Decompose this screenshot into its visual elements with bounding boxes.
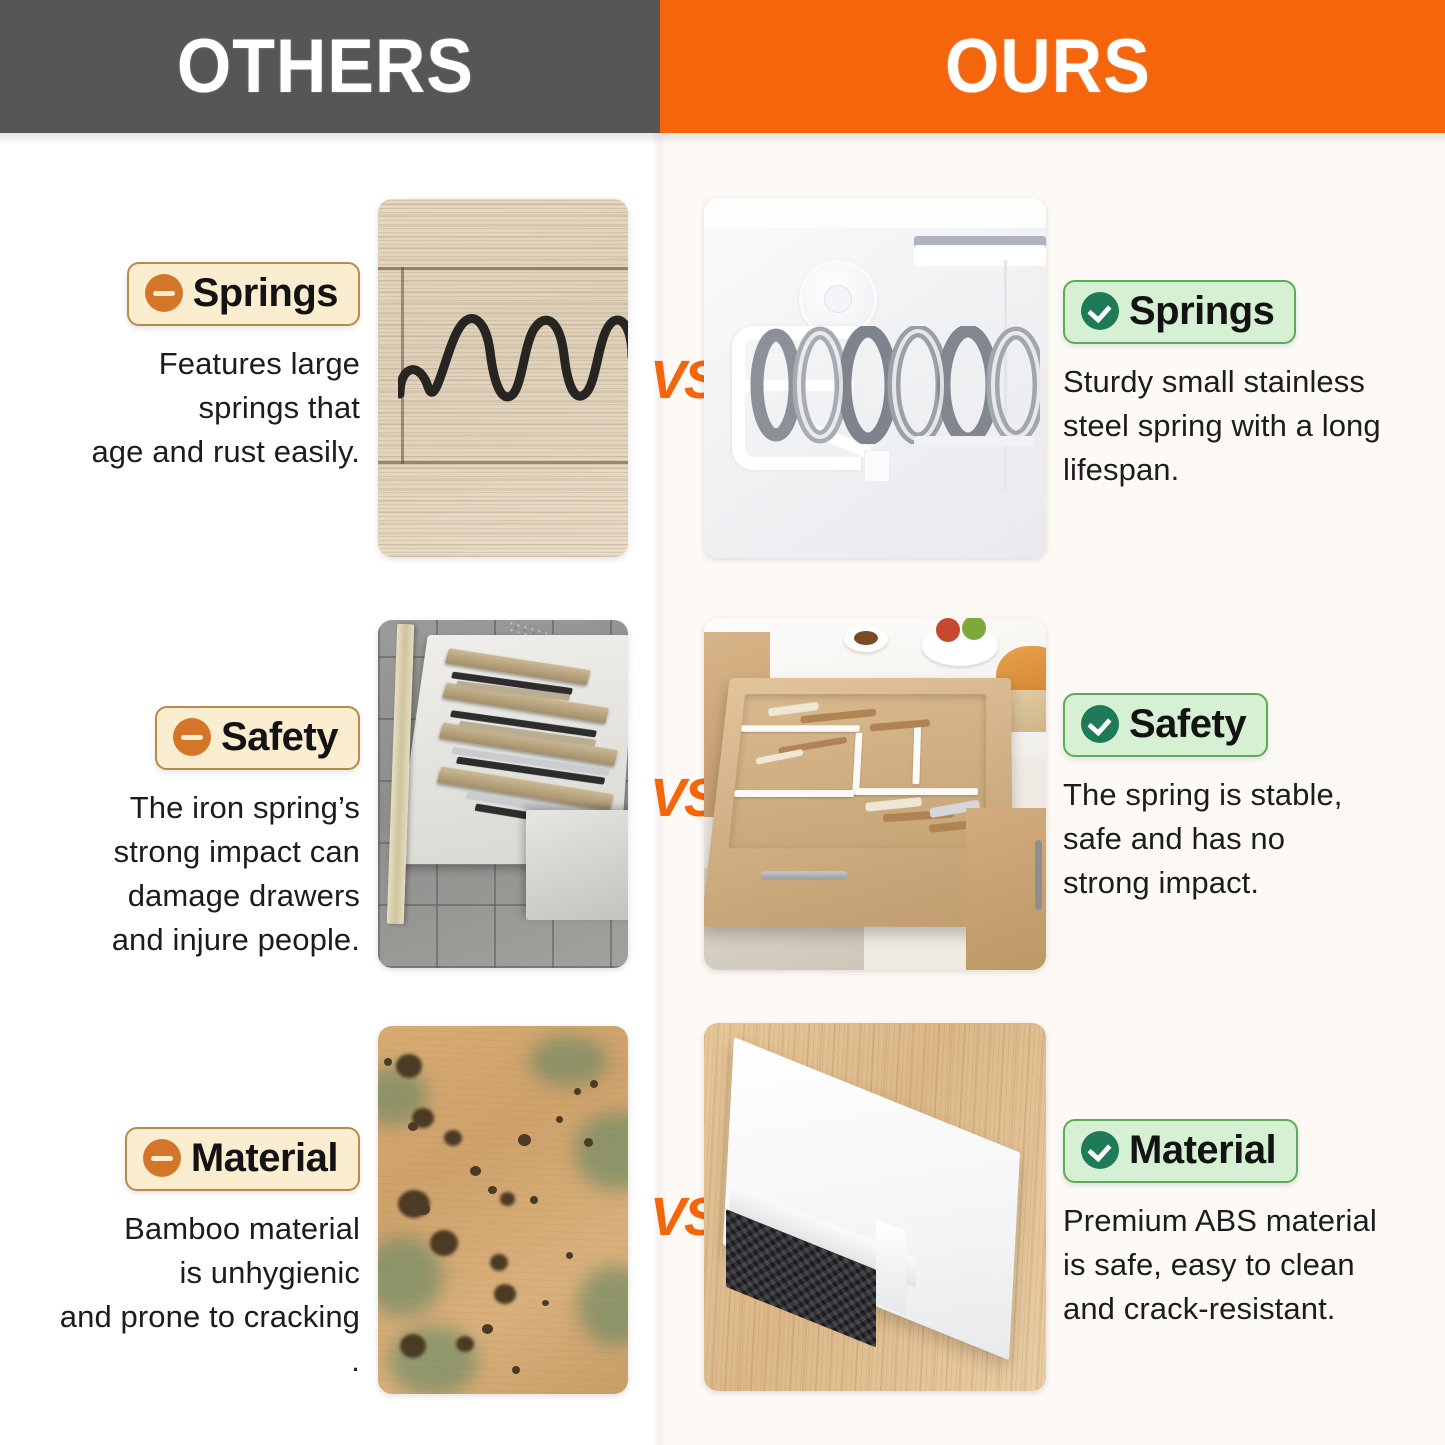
mold-spot xyxy=(530,1196,538,1204)
drawer-interior xyxy=(728,694,986,848)
header-others: OTHERS xyxy=(0,0,660,133)
drawer-divider xyxy=(741,725,860,732)
drawer-divider xyxy=(852,733,862,794)
coil-spring-icon xyxy=(750,326,1040,444)
others-badge-safety: Safety xyxy=(155,706,360,770)
mold-spot xyxy=(488,1186,497,1194)
ours-image-material xyxy=(704,1023,1046,1391)
coffee-cup xyxy=(844,626,888,652)
check-circle-icon xyxy=(1081,1131,1119,1169)
others-badge-label-springs: Springs xyxy=(193,273,338,313)
ours-body-springs: Sturdy small stainless steel spring with… xyxy=(1063,360,1413,492)
fruit-plate xyxy=(922,626,998,666)
others-badge-label-safety: Safety xyxy=(221,717,338,757)
mold-spot xyxy=(408,1122,418,1131)
comparison-row-material: Material Bamboo material is unhygienic a… xyxy=(0,1017,1445,1397)
header-ours: OURS xyxy=(660,0,1445,133)
mechanism-block xyxy=(864,450,890,482)
mold-spot xyxy=(482,1324,493,1334)
mold-spot xyxy=(400,1334,426,1358)
header-bar: OTHERS OURS xyxy=(0,0,1445,133)
others-badge-springs: Springs xyxy=(127,262,360,326)
mold-spot xyxy=(574,1088,581,1095)
drawer-divider xyxy=(854,788,978,795)
mold-patch xyxy=(578,1266,628,1346)
mold-spot xyxy=(490,1254,508,1271)
ours-text-springs: Springs Sturdy small stainless steel spr… xyxy=(1063,280,1413,492)
ours-badge-label-safety: Safety xyxy=(1129,704,1246,744)
ours-body-material: Premium ABS material is safe, easy to cl… xyxy=(1063,1199,1413,1331)
appliance xyxy=(526,810,628,920)
others-image-safety xyxy=(378,620,628,968)
drawer-divider xyxy=(734,790,854,797)
others-badge-label-material: Material xyxy=(191,1138,338,1178)
mold-patch xyxy=(528,1036,608,1086)
drawer-divider xyxy=(912,725,921,784)
mechanism-top-panel xyxy=(704,198,1046,228)
mold-spot xyxy=(384,1058,392,1066)
mold-spot xyxy=(512,1366,520,1374)
ours-badge-springs: Springs xyxy=(1063,280,1296,344)
ours-text-safety: Safety The spring is stable, safe and ha… xyxy=(1063,693,1413,905)
ours-body-safety: The spring is stable, safe and has no st… xyxy=(1063,773,1413,905)
mold-spot xyxy=(500,1192,515,1206)
check-circle-icon xyxy=(1081,705,1119,743)
mold-spot xyxy=(584,1138,593,1147)
header-others-title: OTHERS xyxy=(177,29,474,105)
mold-spot xyxy=(456,1336,474,1352)
mold-spot xyxy=(494,1284,516,1304)
comparison-infographic: OTHERS OURS Springs Features large sprin… xyxy=(0,0,1445,1445)
others-body-material: Bamboo material is unhygienic and prone … xyxy=(30,1207,360,1383)
others-body-springs: Features large springs that age and rust… xyxy=(30,342,360,474)
others-body-safety: The iron spring’s strong impact can dama… xyxy=(30,786,360,962)
board-seam-bottom xyxy=(378,461,628,464)
mold-spot xyxy=(396,1054,422,1078)
mechanism-ledge xyxy=(914,436,1034,446)
ours-badge-label-springs: Springs xyxy=(1129,291,1274,331)
others-text-material: Material Bamboo material is unhygienic a… xyxy=(30,1127,360,1383)
zigzag-spring-icon xyxy=(398,299,628,414)
mold-spot xyxy=(556,1116,563,1123)
ours-image-safety xyxy=(704,618,1046,970)
header-shadow xyxy=(0,133,1445,145)
ours-text-material: Material Premium ABS material is safe, e… xyxy=(1063,1119,1413,1331)
mold-spot xyxy=(470,1166,481,1176)
organized-drawer-photo xyxy=(704,618,1046,970)
white-spring-mechanism xyxy=(704,198,1046,558)
mold-spot xyxy=(542,1300,549,1306)
messy-drawer-photo xyxy=(378,620,628,968)
ours-badge-safety: Safety xyxy=(1063,693,1268,757)
comparison-row-springs: Springs Features large springs that age … xyxy=(0,190,1445,570)
others-image-springs xyxy=(378,199,628,557)
mold-spot xyxy=(444,1130,462,1146)
mechanism-slot xyxy=(914,236,1046,266)
mold-spot xyxy=(566,1252,573,1259)
abs-organizer-photo xyxy=(704,1023,1046,1391)
others-image-material xyxy=(378,1026,628,1394)
check-circle-icon xyxy=(1081,292,1119,330)
mold-spot xyxy=(418,1204,430,1215)
ours-badge-material: Material xyxy=(1063,1119,1298,1183)
drawer-handle xyxy=(760,871,847,879)
board-seam-top xyxy=(378,267,628,270)
mold-spot xyxy=(430,1230,458,1256)
mold-spot xyxy=(590,1080,598,1088)
others-text-springs: Springs Features large springs that age … xyxy=(30,262,360,474)
moldy-bamboo-texture xyxy=(378,1026,628,1394)
ours-image-springs xyxy=(704,198,1046,558)
comparison-row-safety: Safety The iron spring’s strong impact c… xyxy=(0,613,1445,993)
utensil xyxy=(800,709,876,724)
others-badge-material: Material xyxy=(125,1127,360,1191)
apple-red xyxy=(936,618,960,642)
minus-circle-icon xyxy=(173,718,211,756)
others-text-safety: Safety The iron spring’s strong impact c… xyxy=(30,706,360,962)
organizer-side xyxy=(876,1219,906,1315)
wood-board-texture xyxy=(378,199,628,557)
header-ours-title: OURS xyxy=(945,29,1151,105)
minus-circle-icon xyxy=(143,1139,181,1177)
cabinet-right xyxy=(966,808,1046,970)
mold-spot xyxy=(518,1134,531,1146)
utensil xyxy=(865,797,922,812)
mold-patch xyxy=(574,1112,628,1190)
ours-badge-label-material: Material xyxy=(1129,1130,1276,1170)
minus-circle-icon xyxy=(145,274,183,312)
